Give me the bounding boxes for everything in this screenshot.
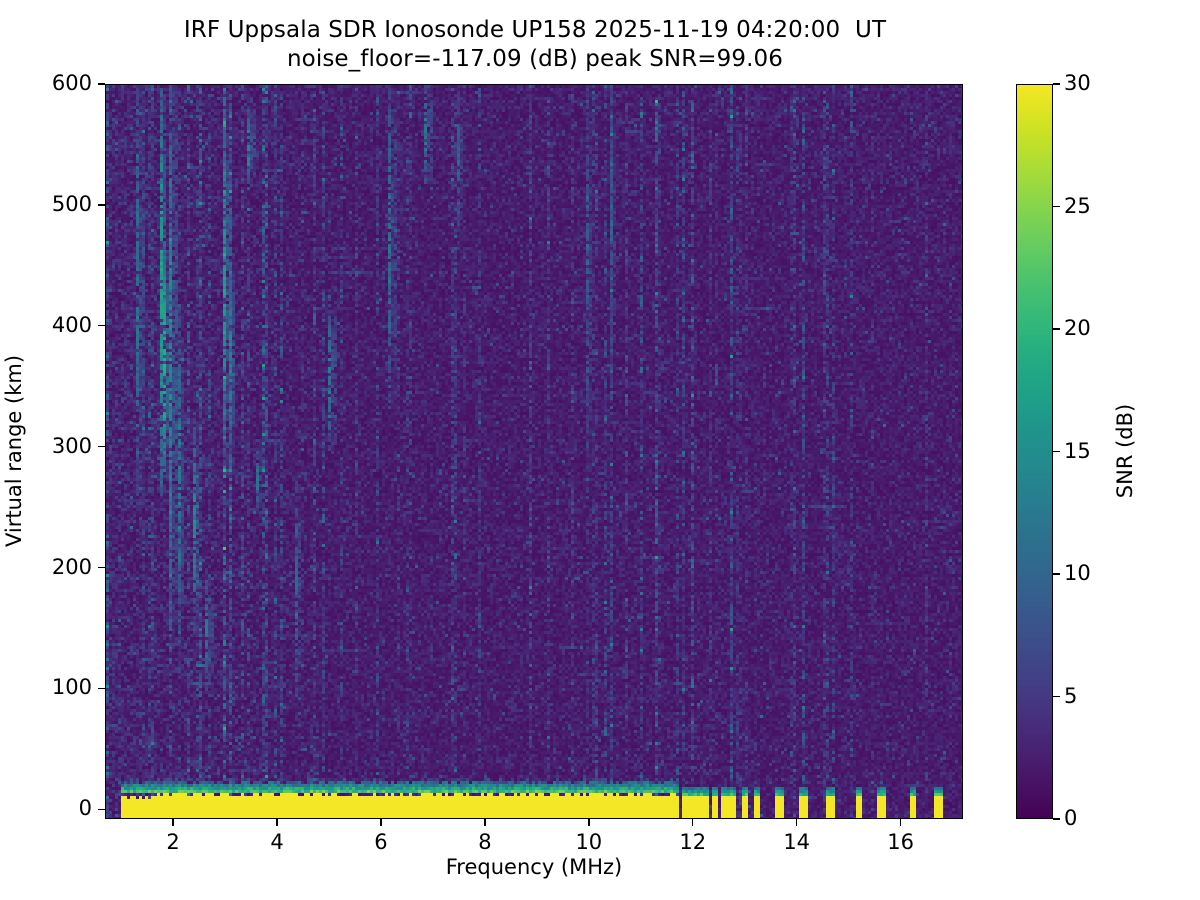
ionogram-heatmap [106,85,963,819]
x-tick-mark [484,819,485,826]
x-tick-label: 10 [575,830,602,854]
title-line-1: IRF Uppsala SDR Ionosonde UP158 2025-11-… [0,16,1070,45]
colorbar-tick-label: 10 [1064,561,1091,585]
colorbar-tick-label: 25 [1064,194,1091,218]
y-tick-mark [98,567,105,568]
x-tick-mark [692,819,693,826]
figure-title: IRF Uppsala SDR Ionosonde UP158 2025-11-… [0,16,1070,75]
x-tick-label: 2 [166,830,179,854]
colorbar-tick-label: 30 [1064,71,1091,95]
y-tick-label: 100 [52,675,92,699]
y-axis-label: Virtual range (km) [2,355,26,547]
y-tick-label: 200 [52,555,92,579]
y-tick-mark [98,204,105,205]
x-tick-mark [588,819,589,826]
x-tick-mark [276,819,277,826]
colorbar-tick-mark [1053,328,1060,329]
y-tick-label: 600 [52,71,92,95]
colorbar-tick-label: 20 [1064,316,1091,340]
colorbar-tick-label: 0 [1064,806,1077,830]
y-tick-mark [98,325,105,326]
x-tick-mark [796,819,797,826]
colorbar-tick-mark [1053,696,1060,697]
y-tick-mark [98,809,105,810]
x-tick-label: 16 [887,830,914,854]
x-tick-label: 14 [783,830,810,854]
x-tick-mark [380,819,381,826]
y-tick-mark [98,446,105,447]
x-tick-label: 8 [478,830,491,854]
colorbar-tick-label: 15 [1064,439,1091,463]
x-tick-mark [172,819,173,826]
colorbar-label: SNR (dB) [1113,404,1137,498]
y-tick-label: 0 [79,796,92,820]
x-tick-mark [900,819,901,826]
ionogram-plot-area [105,84,963,819]
colorbar-gradient [1017,85,1053,819]
y-tick-label: 500 [52,192,92,216]
colorbar-tick-mark [1053,818,1060,819]
y-tick-label: 400 [52,313,92,337]
colorbar [1016,84,1053,819]
x-tick-label: 6 [374,830,387,854]
ionogram-figure: IRF Uppsala SDR Ionosonde UP158 2025-11-… [0,0,1200,900]
x-tick-label: 12 [679,830,706,854]
y-tick-label: 300 [52,434,92,458]
colorbar-tick-mark [1053,451,1060,452]
colorbar-tick-mark [1053,83,1060,84]
x-tick-label: 4 [270,830,283,854]
colorbar-tick-mark [1053,206,1060,207]
colorbar-tick-label: 5 [1064,684,1077,708]
x-axis-label: Frequency (MHz) [446,855,622,879]
title-line-2: noise_floor=-117.09 (dB) peak SNR=99.06 [0,45,1070,74]
colorbar-tick-mark [1053,573,1060,574]
y-tick-mark [98,83,105,84]
y-tick-mark [98,688,105,689]
